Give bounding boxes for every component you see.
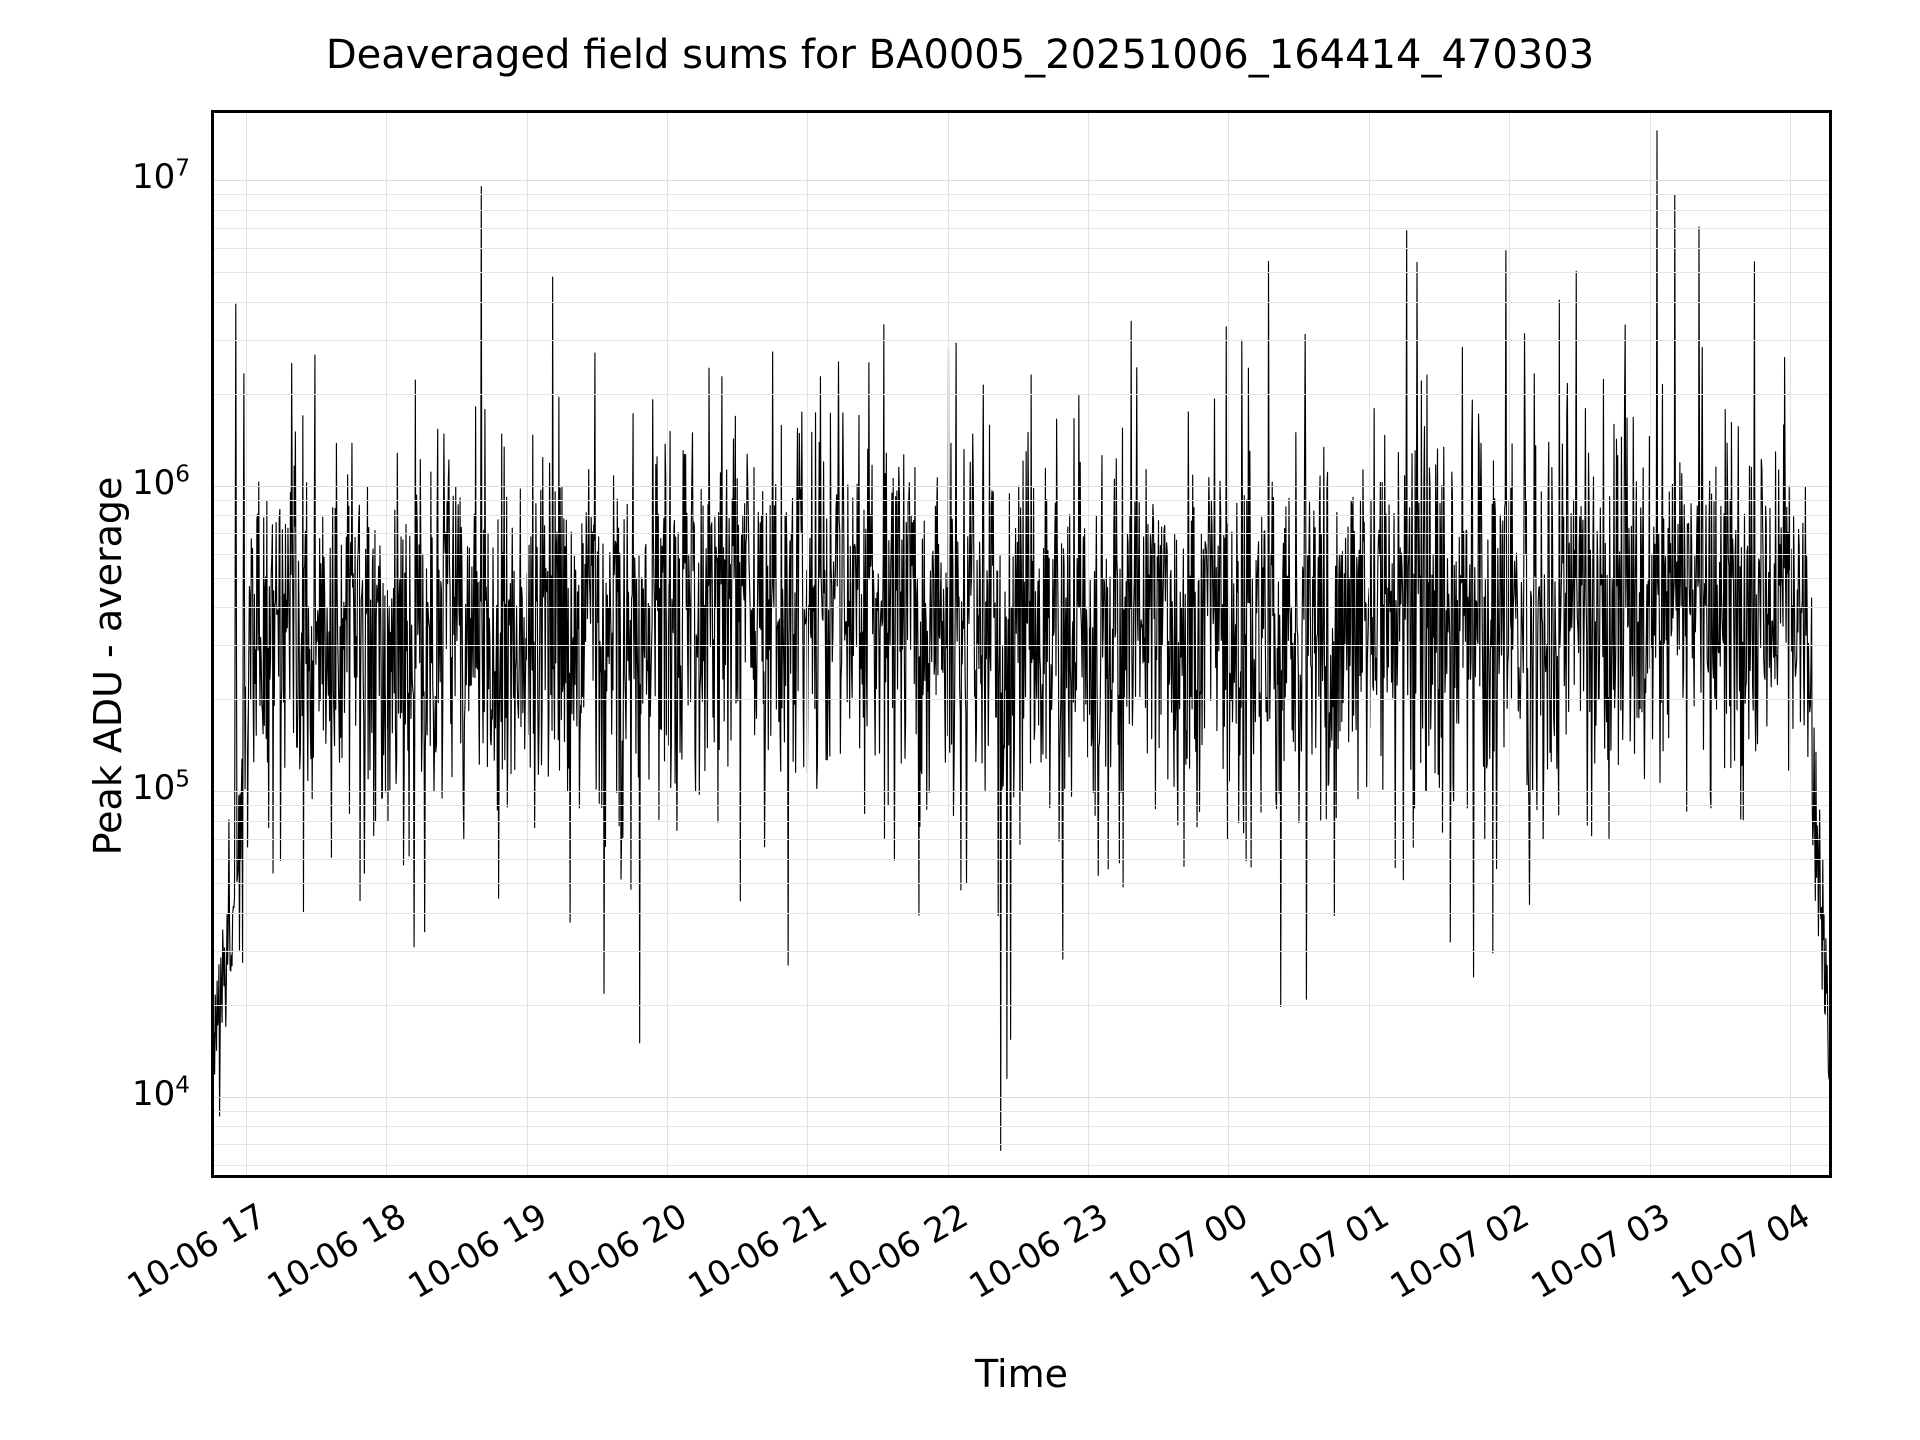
gridline-vertical: [948, 113, 949, 1175]
gridline-horizontal-minor: [214, 554, 1829, 555]
gridline-vertical: [807, 113, 808, 1175]
y-tick-minor: [211, 804, 214, 806]
y-tick-minor: [211, 532, 214, 534]
gridline-horizontal-minor: [214, 645, 1829, 646]
y-tick-minor: [211, 209, 214, 211]
y-tick-label: 105: [132, 768, 196, 808]
gridline-vertical: [527, 113, 528, 1175]
x-tick-major: [666, 1175, 669, 1178]
gridline-horizontal-minor: [214, 515, 1829, 516]
gridline-horizontal-minor: [214, 1144, 1829, 1145]
x-tick-major: [245, 1175, 248, 1178]
y-tick-minor: [211, 247, 214, 249]
y-tick-label: 104: [132, 1074, 196, 1114]
gridline-vertical: [386, 113, 387, 1175]
gridline-horizontal-minor: [214, 533, 1829, 534]
y-tick-minor: [211, 698, 214, 700]
y-tick-major: [211, 179, 214, 182]
x-tick-major: [1508, 1175, 1511, 1178]
gridline-horizontal-minor: [214, 394, 1829, 395]
y-tick-minor: [211, 393, 214, 395]
gridline-horizontal-major: [214, 791, 1829, 792]
gridline-vertical: [1509, 113, 1510, 1175]
gridline-horizontal-minor: [214, 805, 1829, 806]
gridline-vertical: [1790, 113, 1791, 1175]
y-tick-minor: [211, 577, 214, 579]
y-tick-minor: [211, 858, 214, 860]
x-tick-major: [385, 1175, 388, 1178]
gridline-horizontal-minor: [214, 951, 1829, 952]
y-tick-minor: [211, 838, 214, 840]
gridline-horizontal-minor: [214, 340, 1829, 341]
gridline-horizontal-major: [214, 1097, 1829, 1098]
y-tick-major: [211, 790, 214, 793]
gridline-horizontal-minor: [214, 699, 1829, 700]
gridline-horizontal-minor: [214, 821, 1829, 822]
y-tick-major: [211, 1096, 214, 1099]
x-tick-major: [806, 1175, 809, 1178]
y-tick-major: [211, 485, 214, 488]
x-tick-major: [947, 1175, 950, 1178]
gridline-vertical: [667, 113, 668, 1175]
page-title: Deaveraged field sums for BA0005_2025100…: [0, 32, 1920, 78]
gridline-horizontal-minor: [214, 1111, 1829, 1112]
gridline-vertical: [1088, 113, 1089, 1175]
y-tick-minor: [211, 820, 214, 822]
y-tick-minor: [211, 1164, 214, 1166]
y-tick-minor: [211, 227, 214, 229]
y-tick-minor: [211, 912, 214, 914]
x-tick-major: [526, 1175, 529, 1178]
y-tick-minor: [211, 514, 214, 516]
gridline-horizontal-minor: [214, 859, 1829, 860]
gridline-horizontal-minor: [214, 272, 1829, 273]
gridline-horizontal-minor: [214, 228, 1829, 229]
gridline-vertical: [1650, 113, 1651, 1175]
y-tick-minor: [211, 882, 214, 884]
gridline-vertical: [246, 113, 247, 1175]
x-tick-major: [1227, 1175, 1230, 1178]
y-tick-label: 107: [132, 157, 196, 197]
y-tick-minor: [211, 193, 214, 195]
y-tick-minor: [211, 301, 214, 303]
gridline-horizontal-minor: [214, 913, 1829, 914]
y-tick-minor: [211, 1110, 214, 1112]
gridline-horizontal-major: [214, 180, 1829, 181]
gridline-vertical: [1369, 113, 1370, 1175]
plot-area[interactable]: [211, 110, 1832, 1178]
y-tick-minor: [211, 553, 214, 555]
x-tick-major: [1789, 1175, 1792, 1178]
y-tick-minor: [211, 339, 214, 341]
gridline-horizontal-minor: [214, 839, 1829, 840]
gridline-horizontal-minor: [214, 248, 1829, 249]
gridline-horizontal-minor: [214, 500, 1829, 501]
y-tick-minor: [211, 1125, 214, 1127]
gridline-horizontal-minor: [214, 302, 1829, 303]
gridline-horizontal-minor: [214, 607, 1829, 608]
series-path-peak-adu: [214, 131, 1829, 1151]
gridline-vertical: [1228, 113, 1229, 1175]
gridline-horizontal-minor: [214, 578, 1829, 579]
y-tick-minor: [211, 271, 214, 273]
gridline-horizontal-minor: [214, 1005, 1829, 1006]
gridline-horizontal-major: [214, 486, 1829, 487]
y-tick-minor: [211, 606, 214, 608]
x-tick-major: [1087, 1175, 1090, 1178]
x-tick-major: [1649, 1175, 1652, 1178]
y-tick-minor: [211, 1004, 214, 1006]
x-tick-major: [1368, 1175, 1371, 1178]
y-tick-minor: [211, 950, 214, 952]
matplotlib-figure: Deaveraged field sums for BA0005_2025100…: [0, 0, 1920, 1440]
y-tick-minor: [211, 1143, 214, 1145]
y-tick-label: 106: [132, 463, 196, 503]
y-tick-minor: [211, 644, 214, 646]
x-axis-label: Time: [211, 1352, 1832, 1396]
gridline-horizontal-minor: [214, 1165, 1829, 1166]
gridline-horizontal-minor: [214, 210, 1829, 211]
gridline-horizontal-minor: [214, 883, 1829, 884]
gridline-horizontal-minor: [214, 194, 1829, 195]
y-axis-label: Peak ADU - average: [86, 316, 130, 1016]
y-tick-minor: [211, 499, 214, 501]
gridline-horizontal-minor: [214, 1126, 1829, 1127]
